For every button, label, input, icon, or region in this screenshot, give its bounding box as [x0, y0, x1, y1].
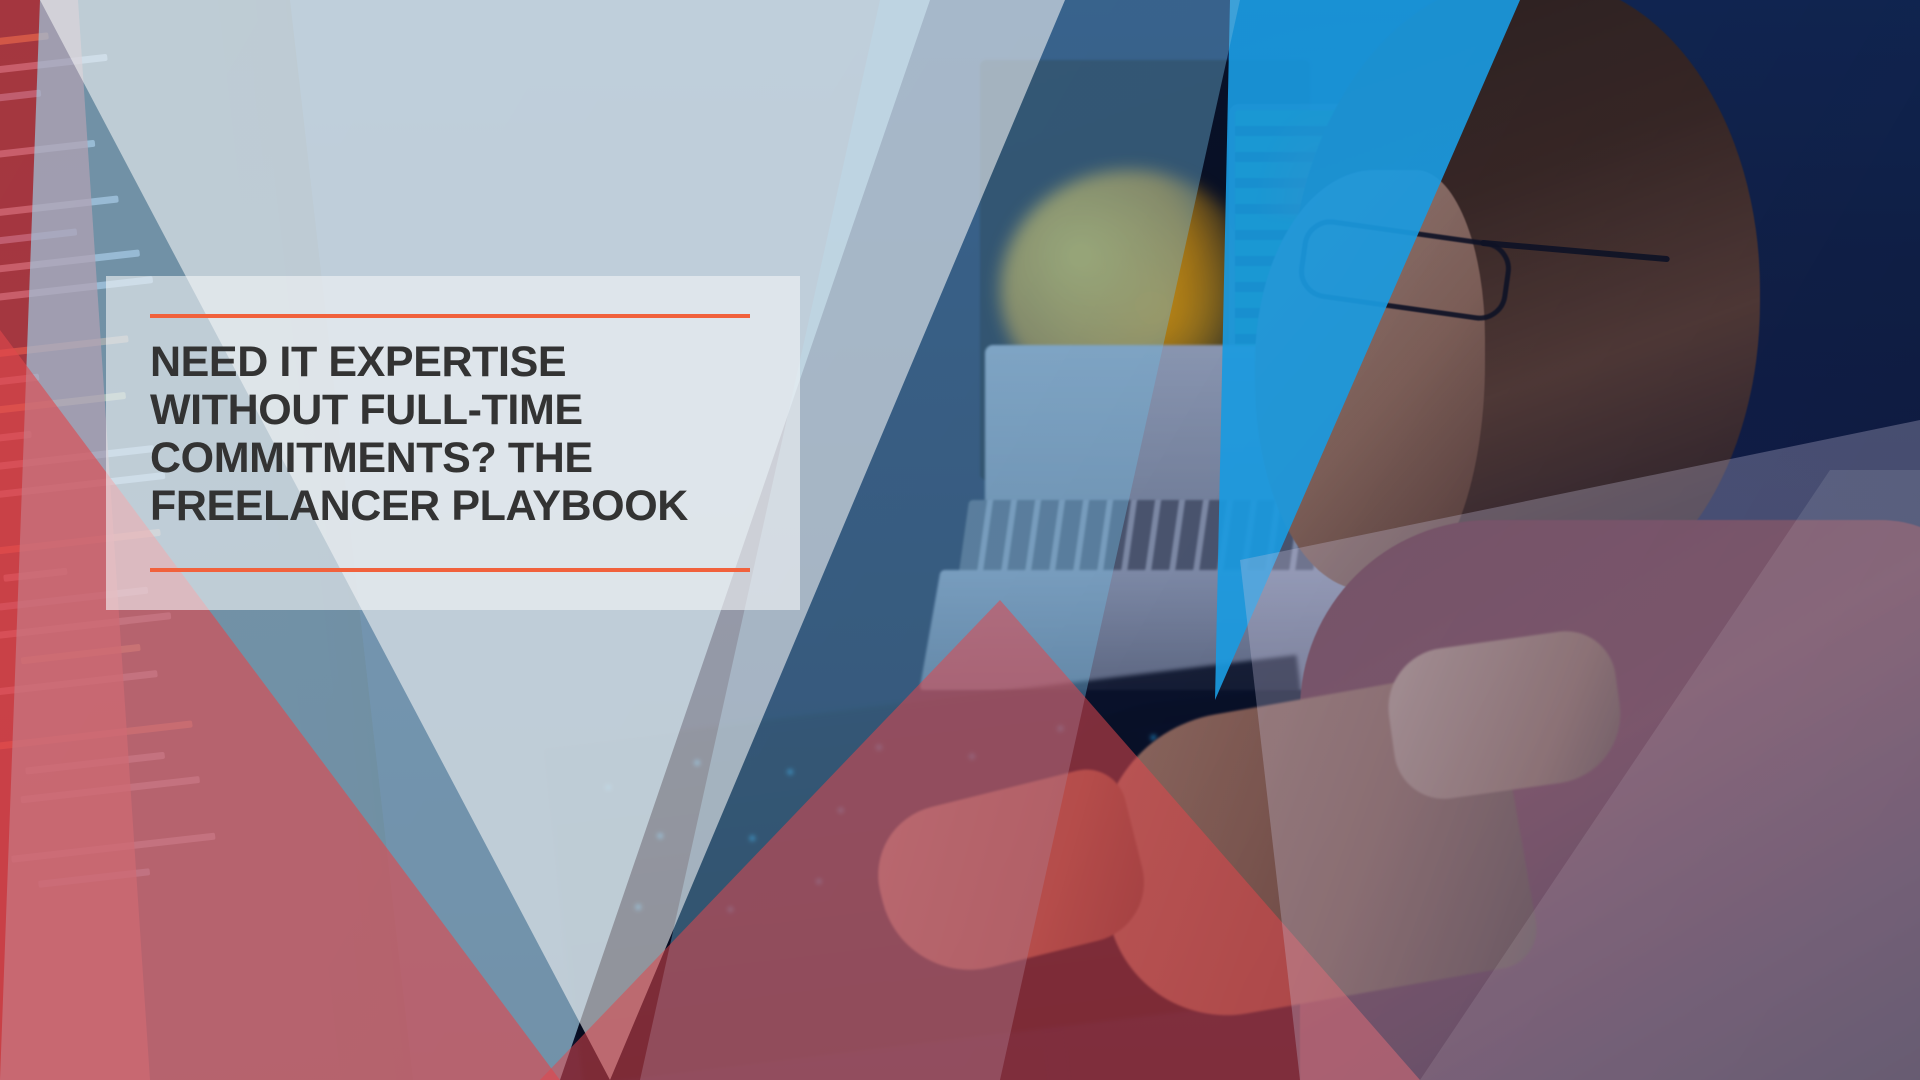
- headline-line-3: COMMITMENTS? THE: [150, 434, 770, 482]
- accent-rule-top: [150, 314, 750, 318]
- page-title: NEED IT EXPERTISE WITHOUT FULL-TIME COMM…: [150, 338, 770, 530]
- hero-banner: NEED IT EXPERTISE WITHOUT FULL-TIME COMM…: [0, 0, 1920, 1080]
- headline-line-1: NEED IT EXPERTISE: [150, 338, 770, 386]
- headline-line-2: WITHOUT FULL-TIME: [150, 386, 770, 434]
- headline-line-4: FREELANCER PLAYBOOK: [150, 482, 770, 530]
- accent-rule-bottom: [150, 568, 750, 572]
